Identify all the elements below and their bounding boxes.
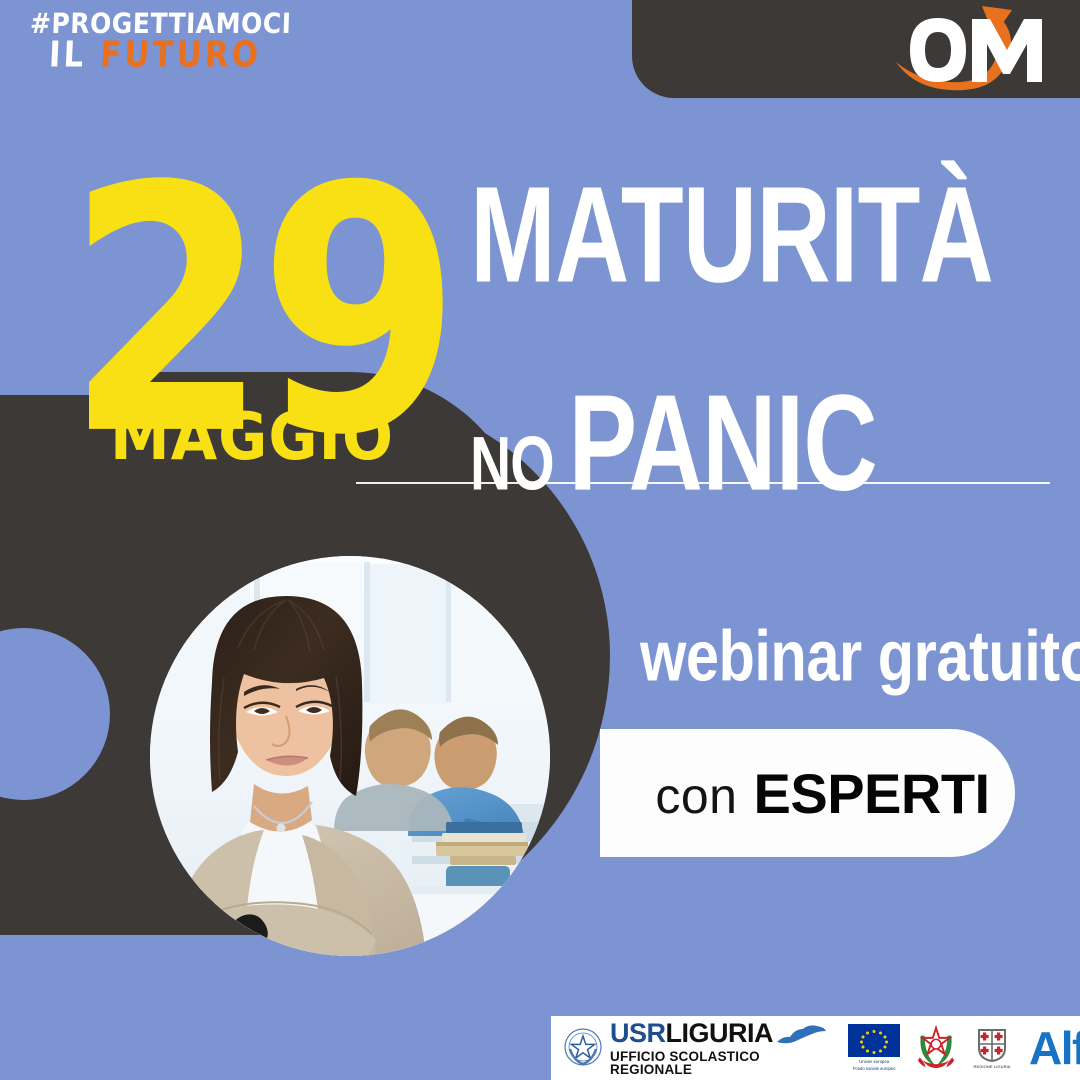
tagline-text: IL FUTURO bbox=[29, 37, 281, 74]
experts-with-label: con bbox=[655, 767, 737, 825]
regione-liguria-caption: REGIONE LIGURIA bbox=[973, 1064, 1010, 1069]
footer-logo-band: USR LIGURIA UFFICIO SCOLASTICO REGIONALE bbox=[551, 1016, 1080, 1080]
tagline-highlight: FUTURO bbox=[99, 34, 262, 75]
webinar-label: webinar gratuito bbox=[640, 620, 1080, 692]
italy-republic-emblem-icon bbox=[915, 1025, 957, 1071]
headline-no: NO bbox=[470, 421, 554, 508]
european-union-logo: Unione europea Fondo sociale europeo bbox=[847, 1024, 901, 1071]
alfa-logo: Alfa bbox=[1029, 1025, 1080, 1071]
headline-line-1: MATURITÀ bbox=[470, 168, 993, 302]
tagline-prefix: IL bbox=[48, 34, 87, 75]
headline-panic: PANIC bbox=[568, 364, 876, 521]
promo-poster: #PROGETTIAMOCI IL FUTURO 29 MAGGIO MATUR… bbox=[0, 0, 1080, 1080]
usr-brand-black: LIGURIA bbox=[666, 1020, 774, 1047]
usr-subtitle: UFFICIO SCOLASTICO REGIONALE bbox=[610, 1050, 833, 1077]
liguria-coastline-icon bbox=[775, 1024, 827, 1046]
headline-line-2: NO PANIC bbox=[470, 364, 993, 521]
event-month: MAGGIO bbox=[110, 405, 394, 470]
usr-liguria-logo: USR LIGURIA UFFICIO SCOLASTICO REGIONALE bbox=[563, 1020, 833, 1077]
eu-caption-line-2: Fondo sociale europeo bbox=[853, 1066, 896, 1072]
italian-republic-emblem-icon bbox=[563, 1027, 603, 1069]
regione-liguria-shield-icon bbox=[977, 1028, 1007, 1062]
usr-brand-blue: USR bbox=[610, 1020, 666, 1047]
om-logo bbox=[890, 2, 1075, 96]
experts-pill: con ESPERTI bbox=[600, 729, 1015, 857]
regione-liguria-logo: REGIONE LIGURIA bbox=[971, 1028, 1013, 1069]
european-union-flag-icon bbox=[848, 1024, 900, 1057]
headline: MATURITÀ NO PANIC bbox=[470, 168, 1038, 493]
campaign-hashtag: #PROGETTIAMOCI IL FUTURO bbox=[30, 11, 280, 72]
divider-rule bbox=[356, 482, 1050, 484]
experts-label: ESPERTI bbox=[754, 761, 990, 826]
student-photo bbox=[150, 556, 550, 956]
